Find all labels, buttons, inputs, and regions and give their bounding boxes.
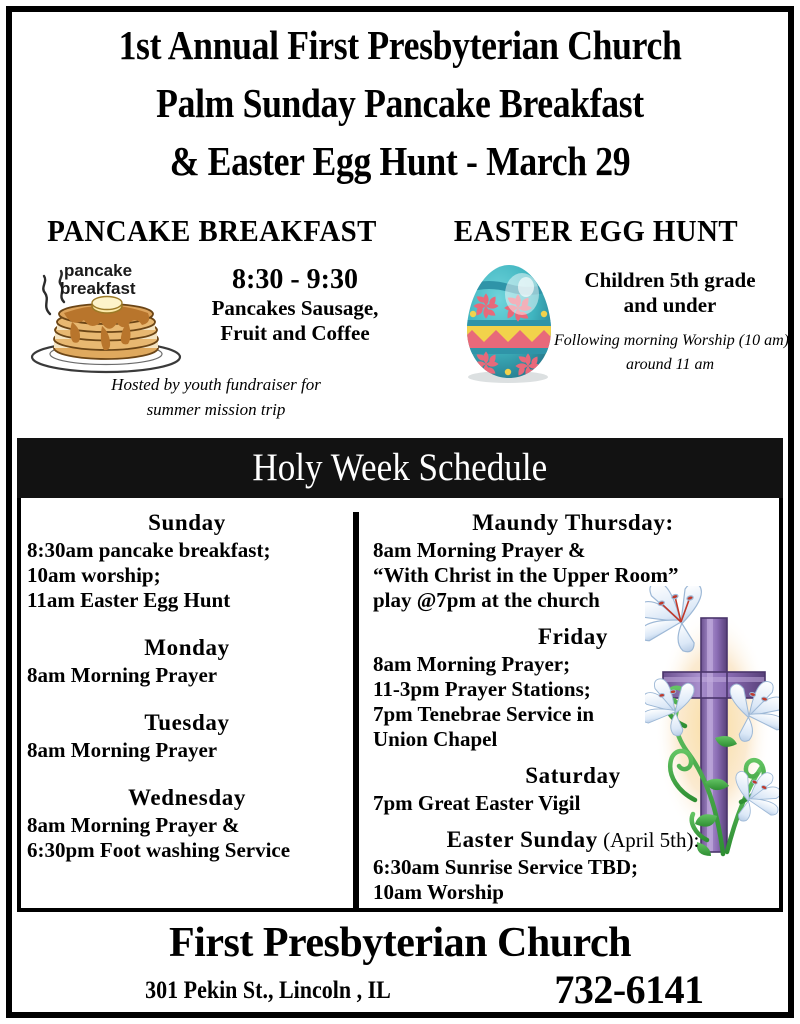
pancake-art-label-line2: breakfast xyxy=(60,279,136,298)
schedule-day-line: 6:30pm Foot washing Service xyxy=(27,838,347,863)
schedule-day-block: Wednesday 8am Morning Prayer & 6:30pm Fo… xyxy=(27,783,347,863)
footer: First Presbyterian Church 301 Pekin St.,… xyxy=(16,918,784,1014)
schedule-day-line: 11am Easter Egg Hunt xyxy=(27,588,347,613)
schedule-right-column: Maundy Thursday: 8am Morning Prayer & “W… xyxy=(373,508,773,909)
pancake-breakfast-title: PANCAKE BREAKFAST xyxy=(30,214,395,248)
schedule-day-heading: Tuesday xyxy=(27,708,347,738)
egg-timing-line-2: around 11 am xyxy=(554,353,786,377)
pancake-art-label-line1: pancake xyxy=(64,261,132,280)
schedule-day-heading-suffix: (April 5th): xyxy=(598,828,699,852)
schedule-day-line: 8am Morning Prayer & xyxy=(27,813,347,838)
schedule-day-heading: Wednesday xyxy=(27,783,347,813)
schedule-day-line: 10am Worship xyxy=(373,880,773,905)
schedule-day-line: 10am worship; xyxy=(27,563,347,588)
schedule-column-divider xyxy=(353,512,359,910)
easter-egg-icon xyxy=(456,260,562,384)
pancake-stack-icon: pancake breakfast xyxy=(24,256,188,374)
headline: 1st Annual First Presbyterian Church Pal… xyxy=(20,16,780,190)
schedule-day-line: Union Chapel xyxy=(373,727,773,752)
schedule-day-block: Maundy Thursday: 8am Morning Prayer & “W… xyxy=(373,508,773,613)
footer-address: 301 Pekin St., Lincoln , IL xyxy=(92,974,444,1008)
schedule-day-heading: Easter Sunday (April 5th): xyxy=(373,825,773,855)
schedule-day-line: 8am Morning Prayer xyxy=(27,663,347,688)
holy-week-schedule-title: Holy Week Schedule xyxy=(253,438,548,498)
pancake-menu-line-1: Pancakes Sausage, xyxy=(184,296,406,321)
pancake-fundraiser-note: Hosted by youth fundraiser for summer mi… xyxy=(56,372,376,422)
schedule-day-block: Easter Sunday (April 5th): 6:30am Sunris… xyxy=(373,825,773,905)
schedule-day-heading: Monday xyxy=(27,633,347,663)
footer-church-name: First Presbyterian Church xyxy=(16,918,784,968)
pancake-breakfast-details: 8:30 - 9:30 Pancakes Sausage, Fruit and … xyxy=(184,264,406,346)
holy-week-schedule-banner: Holy Week Schedule xyxy=(17,438,783,498)
schedule-day-block: Tuesday 8am Morning Prayer xyxy=(27,708,347,763)
schedule-day-heading-main: Easter Sunday xyxy=(447,827,598,852)
egg-audience-line-1: Children 5th grade xyxy=(554,268,786,293)
easter-egg-hunt-details: Children 5th grade and under Following m… xyxy=(554,268,786,377)
schedule-day-heading: Maundy Thursday: xyxy=(373,508,773,538)
pancake-breakfast-body: pancake breakfast xyxy=(16,256,408,368)
holy-week-schedule-content: Sunday 8:30am pancake breakfast; 10am wo… xyxy=(17,498,783,912)
headline-line-2: Palm Sunday Pancake Breakfast xyxy=(69,74,730,132)
schedule-day-line: play @7pm at the church xyxy=(373,588,773,613)
pancake-note-line-2: summer mission trip xyxy=(56,397,376,422)
feature-sections: PANCAKE BREAKFAST pancake breakfast xyxy=(16,214,784,436)
schedule-day-line: 7pm Tenebrae Service in xyxy=(373,702,773,727)
schedule-day-heading: Sunday xyxy=(27,508,347,538)
schedule-day-line: “With Christ in the Upper Room” xyxy=(373,563,773,588)
schedule-day-line: 6:30am Sunrise Service TBD; xyxy=(373,855,773,880)
pancake-note-line-1: Hosted by youth fundraiser for xyxy=(56,372,376,397)
egg-timing-line-1: Following morning Worship (10 am) xyxy=(554,329,786,353)
schedule-day-line: 11-3pm Prayer Stations; xyxy=(373,677,773,702)
easter-egg-hunt-title: EASTER EGG HUNT xyxy=(421,214,771,248)
schedule-day-line: 8am Morning Prayer & xyxy=(373,538,773,563)
schedule-day-line: 7pm Great Easter Vigil xyxy=(373,791,773,816)
schedule-day-block: Friday 8am Morning Prayer; 11-3pm Prayer… xyxy=(373,622,773,752)
flyer-page: 1st Annual First Presbyterian Church Pal… xyxy=(0,0,800,1024)
pancake-breakfast-section: PANCAKE BREAKFAST pancake breakfast xyxy=(16,214,408,436)
headline-line-1: 1st Annual First Presbyterian Church xyxy=(69,16,730,74)
footer-phone: 732-6141 xyxy=(484,968,774,1012)
schedule-day-heading: Saturday xyxy=(373,761,773,791)
schedule-day-line: 8am Morning Prayer xyxy=(27,738,347,763)
schedule-day-block: Sunday 8:30am pancake breakfast; 10am wo… xyxy=(27,508,347,613)
easter-egg-hunt-body: Children 5th grade and under Following m… xyxy=(408,258,784,388)
schedule-day-heading: Friday xyxy=(373,622,773,652)
schedule-day-line: 8:30am pancake breakfast; xyxy=(27,538,347,563)
easter-egg-hunt-section: EASTER EGG HUNT xyxy=(408,214,784,436)
schedule-day-line: 8am Morning Prayer; xyxy=(373,652,773,677)
egg-audience-line-2: and under xyxy=(554,293,786,318)
pancake-menu-line-2: Fruit and Coffee xyxy=(184,321,406,346)
pancake-time: 8:30 - 9:30 xyxy=(184,264,406,296)
schedule-day-block: Saturday 7pm Great Easter Vigil xyxy=(373,761,773,816)
schedule-day-block: Monday 8am Morning Prayer xyxy=(27,633,347,688)
schedule-left-column: Sunday 8:30am pancake breakfast; 10am wo… xyxy=(27,508,347,867)
headline-line-3: & Easter Egg Hunt - March 29 xyxy=(69,132,730,190)
